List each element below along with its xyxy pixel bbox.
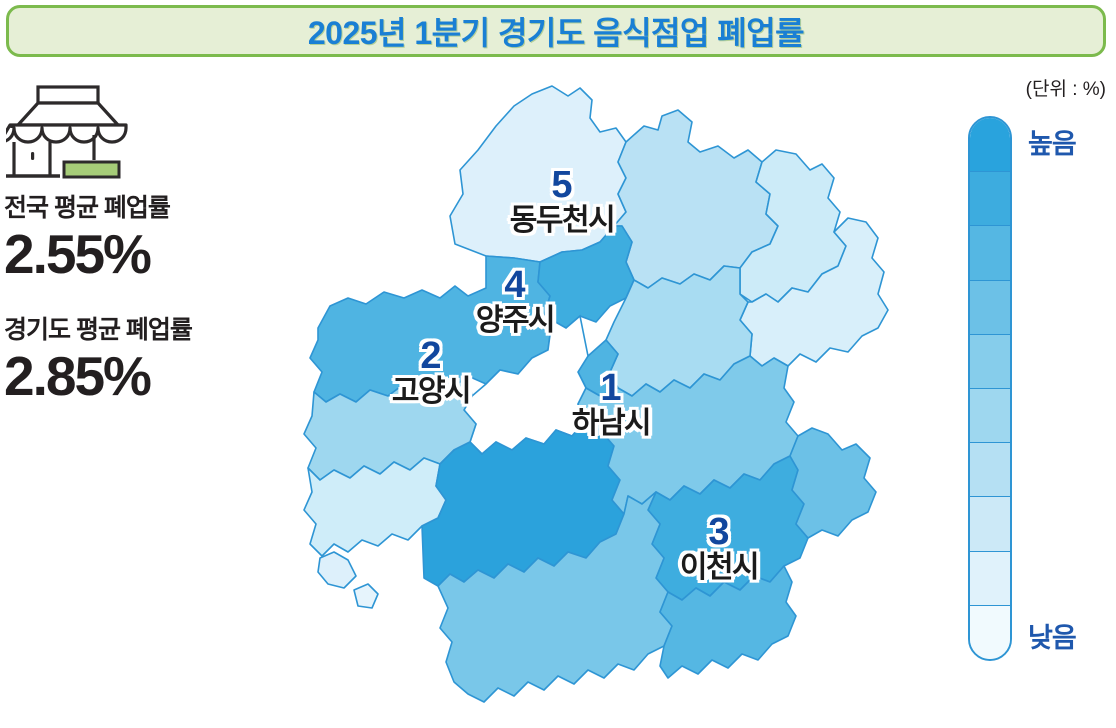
gyeonggi-choropleth-map[interactable]: 1 하남시 2 고양시 3 이천시 4 양주시 5 동두천시 bbox=[300, 66, 940, 726]
national-average-value: 2.55% bbox=[4, 226, 294, 284]
map-regions bbox=[304, 86, 888, 702]
region-yeoju[interactable] bbox=[790, 428, 876, 538]
legend-segment-7 bbox=[970, 497, 1010, 551]
map-svg bbox=[300, 66, 940, 726]
legend-high-label: 높음 bbox=[1028, 122, 1076, 161]
region-island-ganghwa[interactable] bbox=[318, 552, 356, 588]
legend-segment-5 bbox=[970, 389, 1010, 443]
region-island-small[interactable] bbox=[354, 584, 378, 608]
legend-segment-3 bbox=[970, 281, 1010, 335]
region-dongducheon-area[interactable] bbox=[450, 86, 626, 262]
legend-segment-0 bbox=[970, 118, 1010, 172]
legend-segment-8 bbox=[970, 552, 1010, 606]
legend-low-label: 낮음 bbox=[1028, 616, 1076, 655]
legend-segment-1 bbox=[970, 172, 1010, 226]
national-average-block: 전국 평균 폐업률 2.55% bbox=[4, 188, 294, 284]
stats-panel: 전국 평균 폐업률 2.55% 경기도 평균 폐업률 2.85% bbox=[4, 80, 294, 406]
legend-color-scale bbox=[968, 116, 1012, 661]
legend-segment-2 bbox=[970, 226, 1010, 280]
storefront-icon bbox=[6, 80, 136, 180]
legend: (단위 : %) 높음 낮음 bbox=[958, 74, 1108, 674]
national-average-label: 전국 평균 폐업률 bbox=[4, 188, 294, 224]
title-banner: 2025년 1분기 경기도 음식점업 폐업률 bbox=[6, 5, 1106, 57]
legend-segment-9 bbox=[970, 606, 1010, 659]
gyeonggi-average-block: 경기도 평균 폐업률 2.85% bbox=[4, 310, 294, 406]
legend-segment-4 bbox=[970, 335, 1010, 389]
legend-unit-label: (단위 : %) bbox=[1026, 74, 1106, 101]
gyeonggi-average-value: 2.85% bbox=[4, 348, 294, 406]
gyeonggi-average-label: 경기도 평균 폐업률 bbox=[4, 310, 294, 346]
page-title: 2025년 1분기 경기도 음식점업 폐업률 bbox=[308, 8, 804, 54]
legend-segment-6 bbox=[970, 443, 1010, 497]
